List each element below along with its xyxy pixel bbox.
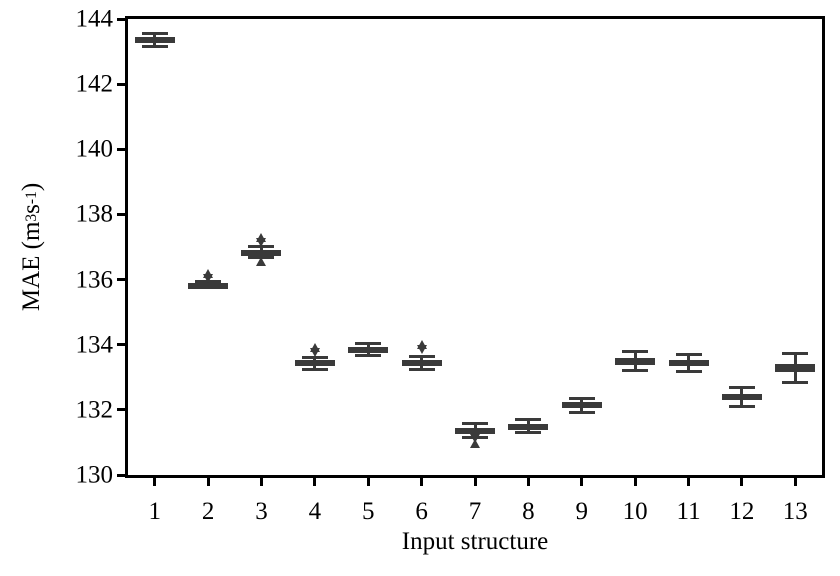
- box-plot-figure: 1301321341361381401421441234567891011121…: [0, 0, 840, 576]
- y-axis-tick-label: 136: [76, 267, 114, 292]
- median-line: [775, 366, 815, 369]
- y-axis-tick: [117, 213, 128, 216]
- plot-area: 1301321341361381401421441234567891011121…: [125, 16, 825, 478]
- y-axis-tick: [117, 408, 128, 411]
- x-axis-tick-label: 12: [729, 499, 754, 524]
- x-axis-tick: [313, 475, 316, 486]
- y-axis-title: MAE (m3 s-1): [14, 16, 50, 478]
- x-axis-tick: [794, 475, 797, 486]
- x-axis-tick-label: 13: [783, 499, 808, 524]
- plot-inner: 1301321341361381401421441234567891011121…: [128, 19, 822, 475]
- y-axis-tick-label: 142: [76, 72, 114, 97]
- x-axis-title: Input structure: [125, 529, 825, 554]
- y-axis-tick-label: 132: [76, 397, 114, 422]
- x-axis-tick-label: 3: [255, 499, 268, 524]
- x-axis-tick: [634, 475, 637, 486]
- cap-upper: [782, 352, 808, 355]
- y-axis-tick: [117, 18, 128, 21]
- x-axis-tick: [687, 475, 690, 486]
- y-axis-tick-label: 134: [76, 332, 114, 357]
- y-axis-tick-label: 138: [76, 202, 114, 227]
- x-axis-tick: [260, 475, 263, 486]
- x-axis-tick-label: 6: [415, 499, 428, 524]
- y-axis-title-sup-neg1: -1: [23, 191, 41, 204]
- x-axis-tick: [367, 475, 370, 486]
- x-axis-tick: [527, 475, 530, 486]
- box-plot-13[interactable]: [128, 19, 822, 475]
- y-axis-tick-label: 140: [76, 137, 114, 162]
- x-axis-tick-label: 8: [522, 499, 535, 524]
- y-axis-tick-label: 130: [76, 463, 114, 488]
- y-axis-tick: [117, 343, 128, 346]
- x-axis-tick: [474, 475, 477, 486]
- x-axis-tick: [153, 475, 156, 486]
- whisker-upper: [794, 353, 797, 363]
- y-axis-tick: [117, 474, 128, 477]
- y-axis-tick: [117, 148, 128, 151]
- x-axis-tick: [420, 475, 423, 486]
- x-axis-tick: [740, 475, 743, 486]
- cap-lower: [782, 381, 808, 384]
- x-axis-tick-label: 9: [576, 499, 589, 524]
- y-axis-tick: [117, 83, 128, 86]
- x-axis-tick-label: 4: [309, 499, 322, 524]
- x-axis-tick: [207, 475, 210, 486]
- y-axis-title-prefix: MAE (m: [18, 222, 46, 312]
- y-axis-title-suffix: ): [18, 183, 46, 191]
- y-axis-tick-label: 144: [76, 7, 114, 32]
- x-axis-tick: [580, 475, 583, 486]
- x-axis-tick-label: 7: [469, 499, 482, 524]
- x-axis-tick-label: 2: [202, 499, 215, 524]
- x-axis-tick-label: 11: [676, 499, 700, 524]
- y-axis-title-sup-3: 3: [23, 214, 41, 222]
- y-axis-title-mid: s: [18, 204, 46, 214]
- x-axis-tick-label: 5: [362, 499, 375, 524]
- y-axis-tick: [117, 278, 128, 281]
- x-axis-tick-label: 1: [148, 499, 161, 524]
- x-axis-tick-label: 10: [623, 499, 648, 524]
